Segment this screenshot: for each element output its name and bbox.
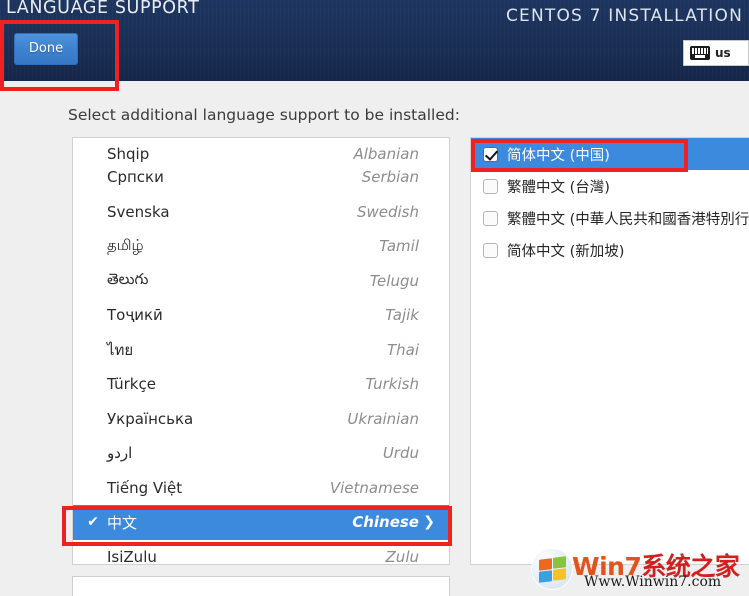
language-english-name: Turkish bbox=[365, 375, 419, 393]
locale-label: 繁體中文 (台灣) bbox=[507, 176, 610, 197]
keyboard-layout-label: us bbox=[715, 46, 731, 60]
locale-row[interactable]: 简体中文 (中国) bbox=[471, 138, 749, 170]
language-native-name: Türkçe bbox=[101, 375, 365, 393]
locale-label: 简体中文 (新加坡) bbox=[507, 240, 624, 261]
language-english-name: Thai bbox=[387, 341, 419, 359]
language-english-name: Urdu bbox=[383, 444, 419, 462]
installer-screen: LANGUAGE SUPPORT CENTOS 7 INSTALLATION D… bbox=[0, 0, 749, 596]
language-row[interactable]: اردوUrdu bbox=[73, 436, 449, 471]
language-row[interactable]: СрпскиSerbian bbox=[73, 160, 449, 195]
locale-label: 简体中文 (中国) bbox=[507, 144, 610, 165]
language-native-name: தமிழ் bbox=[101, 236, 379, 256]
page-title: LANGUAGE SUPPORT bbox=[6, 0, 199, 18]
checkbox-checked-icon[interactable] bbox=[483, 147, 498, 162]
language-english-name: Ukrainian bbox=[347, 410, 419, 428]
language-native-name: తెలుగు bbox=[101, 270, 370, 292]
language-row[interactable]: తెలుగుTelugu bbox=[73, 264, 449, 299]
language-list[interactable]: ShqipAlbanianСрпскиSerbianSvenskaSwedish… bbox=[72, 137, 450, 565]
language-row[interactable]: ไทยThai bbox=[73, 333, 449, 368]
language-english-name: Telugu bbox=[370, 272, 419, 290]
language-native-name: 中文 bbox=[101, 512, 352, 533]
checkbox-icon[interactable] bbox=[483, 179, 498, 194]
language-search-input[interactable] bbox=[72, 576, 450, 596]
locale-row[interactable]: 繁體中文 (台灣) bbox=[471, 170, 749, 202]
language-english-name: Vietnamese bbox=[330, 479, 419, 497]
locale-row[interactable]: 简体中文 (新加坡) bbox=[471, 234, 749, 266]
keyboard-layout-indicator[interactable]: us bbox=[683, 40, 749, 66]
language-row[interactable]: TürkçeTurkish bbox=[73, 367, 449, 402]
check-icon: ✔ bbox=[85, 515, 101, 529]
product-brand-label: CENTOS 7 INSTALLATION bbox=[506, 6, 743, 26]
language-english-name: Chinese bbox=[352, 513, 419, 531]
language-english-name: Zulu bbox=[386, 548, 419, 565]
language-row[interactable]: SvenskaSwedish bbox=[73, 195, 449, 230]
locale-row[interactable]: 繁體中文 (中華人民共和國香港特別行政區) bbox=[471, 202, 749, 234]
instruction-text: Select additional language support to be… bbox=[68, 106, 460, 124]
language-row[interactable]: ✔中文Chinese❯ bbox=[73, 505, 449, 540]
locale-list[interactable]: 简体中文 (中国)繁體中文 (台灣)繁體中文 (中華人民共和國香港特別行政區)简… bbox=[470, 137, 749, 565]
checkbox-icon[interactable] bbox=[483, 243, 498, 258]
language-native-name: ไทย bbox=[101, 338, 387, 362]
chevron-right-icon: ❯ bbox=[419, 514, 435, 530]
language-native-name: IsiZulu bbox=[101, 548, 386, 565]
window-header: LANGUAGE SUPPORT CENTOS 7 INSTALLATION D… bbox=[0, 0, 749, 81]
language-english-name: Tajik bbox=[385, 306, 419, 324]
language-row[interactable]: УкраїнськаUkrainian bbox=[73, 402, 449, 437]
language-english-name: Swedish bbox=[357, 203, 419, 221]
done-button[interactable]: Done bbox=[14, 33, 78, 65]
language-row[interactable]: தமிழ்Tamil bbox=[73, 229, 449, 264]
language-english-name: Tamil bbox=[379, 237, 419, 255]
language-row[interactable]: ShqipAlbanian bbox=[73, 138, 449, 160]
language-native-name: Српски bbox=[101, 168, 362, 186]
keyboard-icon bbox=[690, 46, 710, 60]
language-row[interactable]: Tiếng ViệtVietnamese bbox=[73, 471, 449, 506]
language-english-name: Serbian bbox=[362, 168, 419, 186]
watermark-url: Www.Winwin7.com bbox=[584, 574, 721, 590]
language-native-name: Тоҷикӣ bbox=[101, 306, 385, 324]
language-row[interactable]: ТоҷикӣTajik bbox=[73, 298, 449, 333]
checkbox-icon[interactable] bbox=[483, 211, 498, 226]
language-native-name: اردو bbox=[101, 444, 383, 462]
language-row[interactable]: IsiZuluZulu bbox=[73, 540, 449, 566]
locale-label: 繁體中文 (中華人民共和國香港特別行政區) bbox=[507, 208, 749, 229]
language-native-name: Українська bbox=[101, 410, 347, 428]
language-native-name: Svenska bbox=[101, 203, 357, 221]
language-native-name: Tiếng Việt bbox=[101, 479, 330, 497]
